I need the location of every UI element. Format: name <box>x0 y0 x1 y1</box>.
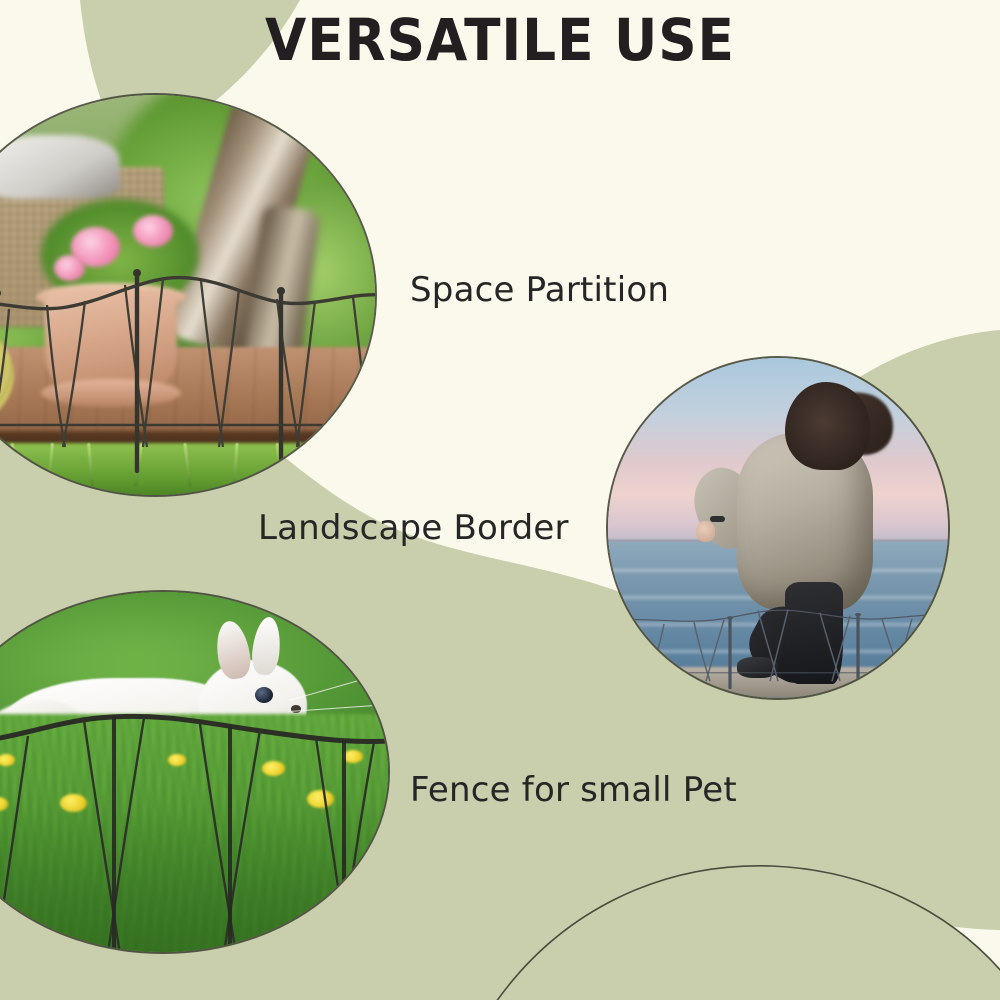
photo-landscape-border <box>608 358 948 698</box>
photo-space-partition <box>0 95 375 495</box>
fence-graphic-3 <box>0 592 388 952</box>
fence-graphic-2 <box>608 521 948 698</box>
page-title: VERSATILE USE <box>40 6 960 74</box>
photo-fence-small-pet <box>0 592 388 952</box>
fence-graphic-1 <box>0 95 375 495</box>
label-landscape-border: Landscape Border <box>258 508 569 548</box>
label-fence-small-pet: Fence for small Pet <box>410 770 737 810</box>
label-space-partition: Space Partition <box>410 270 669 310</box>
versatile-use-poster: VERSATILE USE <box>0 0 1000 1000</box>
